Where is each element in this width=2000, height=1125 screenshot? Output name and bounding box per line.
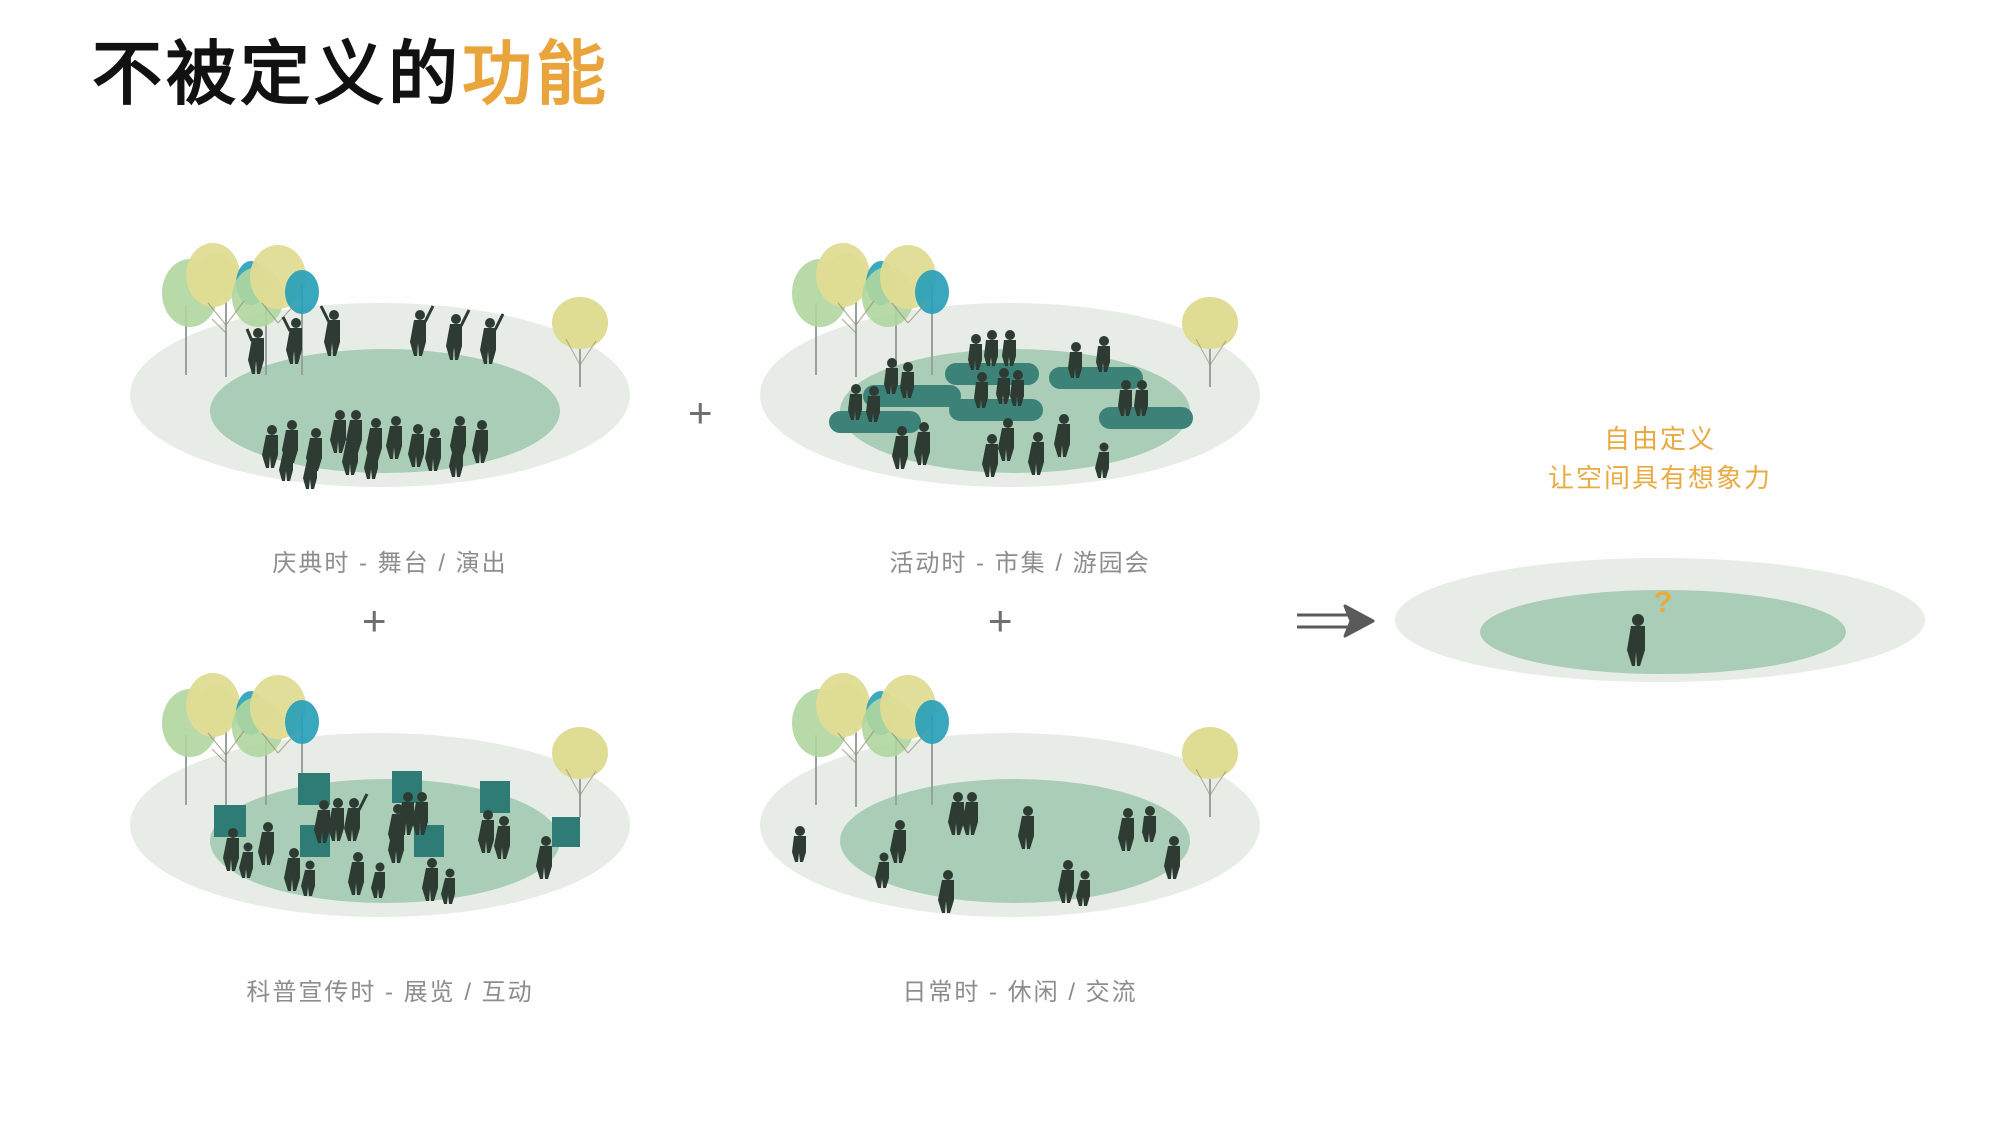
result-text: 自由定义 让空间具有想象力	[1380, 420, 1940, 498]
plus-operator-right: +	[988, 600, 1013, 642]
scene-celebration: 庆典时 - 舞台 / 演出	[130, 215, 650, 545]
page-title: 不被定义的功能	[92, 36, 610, 113]
plus-operator-top: +	[688, 392, 713, 434]
arrow-right-icon	[1295, 598, 1385, 644]
scene-event-market: 活动时 - 市集 / 游园会	[760, 215, 1280, 545]
scene-daily-leisure: 日常时 - 休闲 / 交流	[760, 645, 1280, 975]
result-illustration: ?	[1380, 520, 1940, 740]
scene-science-exhibition-illustration	[130, 645, 650, 975]
page-title-accent: 功能	[462, 35, 610, 113]
plus-operator-left: +	[362, 600, 387, 642]
scene-caption: 日常时 - 休闲 / 交流	[760, 972, 1280, 1007]
question-mark-icon: ?	[1654, 586, 1672, 619]
scene-daily-leisure-illustration	[760, 645, 1280, 975]
scene-science-exhibition: 科普宣传时 - 展览 / 互动	[130, 645, 650, 975]
scene-celebration-illustration	[130, 215, 650, 545]
result-line-1: 自由定义	[1380, 420, 1940, 459]
scene-event-market-illustration	[760, 215, 1280, 545]
page-title-main: 不被定义的	[92, 35, 462, 113]
scene-caption: 科普宣传时 - 展览 / 互动	[130, 972, 650, 1007]
scene-caption: 活动时 - 市集 / 游园会	[760, 543, 1280, 578]
result-block: 自由定义 让空间具有想象力 ?	[1380, 420, 1940, 750]
slide-canvas: 不被定义的功能	[0, 0, 2000, 1125]
scene-caption: 庆典时 - 舞台 / 演出	[130, 543, 650, 578]
result-line-2: 让空间具有想象力	[1380, 459, 1940, 498]
